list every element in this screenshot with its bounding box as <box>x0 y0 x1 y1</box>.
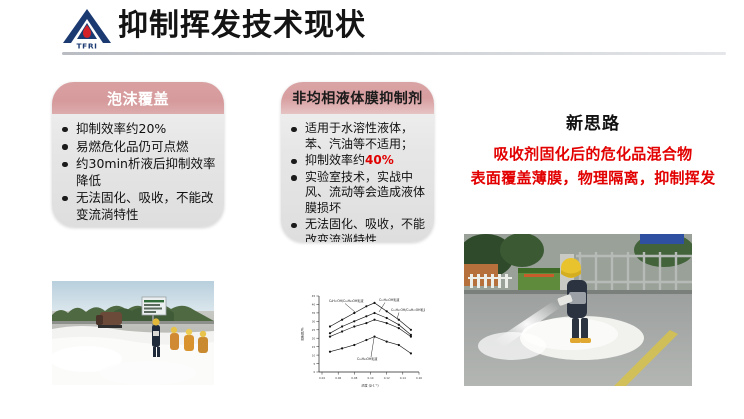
card-film-body: 适用于水溶性液体，苯、汽油等不适用； 抑制效率约40% 实验室技术，实战中风、流… <box>281 114 434 242</box>
new-idea-title: 新思路 <box>447 112 739 136</box>
list-item: 适用于水溶性液体，苯、汽油等不适用； <box>290 121 428 152</box>
svg-text:10: 10 <box>312 353 316 357</box>
chart-series-4-label: C₁₆H₃₃OH乳液 <box>357 356 377 361</box>
new-idea-line-1: 吸收剂固化后的危化品混合物 <box>447 142 739 166</box>
svg-text:25: 25 <box>312 328 316 332</box>
chart-series-3-label: C₁₀H₂₁OH/C₁₈H₃₇OH乳液 <box>391 307 425 312</box>
card-heterogeneous-liquid-film: 非均相液体膜抑制剂 适用于水溶性液体，苯、汽油等不适用； 抑制效率约40% 实验… <box>281 82 434 242</box>
highway-photo-art <box>52 281 214 385</box>
new-idea-block: 新思路 吸收剂固化后的危化品混合物 表面覆盖薄膜，物理隔离，抑制挥发 <box>447 112 739 190</box>
tfri-logo: TFRI <box>58 6 116 50</box>
svg-text:0.06: 0.06 <box>335 376 341 380</box>
firefighter-spraying-foam-photo <box>464 234 692 386</box>
list-item-prefix: 抑制效率约 <box>305 153 365 167</box>
svg-text:15: 15 <box>312 345 316 349</box>
svg-text:5: 5 <box>313 362 315 366</box>
card-foam-body: 抑制效率约20% 易燃危化品仍可点燃 约30min析液后抑制效率降低 无法固化、… <box>52 114 224 227</box>
svg-text:0.14: 0.14 <box>400 376 406 380</box>
chart-svg: 05 1015 2025 3035 4045 0.040.06 0.080.10… <box>293 288 425 392</box>
list-item: 易燃危化品仍可点燃 <box>61 139 218 156</box>
spray-photo-art <box>464 234 692 386</box>
chart-series-2-label: C₁₂H₂₅OH乳液 <box>379 297 399 302</box>
card-foam-coverage: 泡沫覆盖 抑制效率约20% 易燃危化品仍可点燃 约30min析液后抑制效率降低 … <box>52 82 224 227</box>
svg-text:0.16: 0.16 <box>416 376 422 380</box>
list-item: 抑制效率约20% <box>61 121 218 138</box>
slide-header: TFRI 抑制挥发技术现状 <box>0 0 744 58</box>
inhibition-rate-vs-concentration-chart: 05 1015 2025 3035 4045 0.040.06 0.080.10… <box>293 288 425 392</box>
card-foam-bullet-list: 抑制效率约20% 易燃危化品仍可点燃 约30min析液后抑制效率降低 无法固化、… <box>61 121 218 223</box>
svg-text:30: 30 <box>312 320 316 324</box>
svg-text:0.08: 0.08 <box>351 376 357 380</box>
svg-text:40: 40 <box>312 303 316 307</box>
card-foam-title: 泡沫覆盖 <box>107 88 169 109</box>
svg-text:0.10: 0.10 <box>368 376 374 380</box>
chart-series-1-label: C₈H₁₇OH/C₁₆H₃₃OH乳液 <box>329 298 363 303</box>
page-title: 抑制挥发技术现状 <box>118 7 366 45</box>
svg-text:0.12: 0.12 <box>384 376 390 380</box>
chart-ylabel: 抑制率/% <box>300 327 305 340</box>
svg-text:0: 0 <box>313 370 315 374</box>
card-film-title: 非均相液体膜抑制剂 <box>292 88 423 108</box>
list-item-highlight: 40% <box>365 153 394 167</box>
svg-text:45: 45 <box>312 294 316 298</box>
logo-wordmark: TFRI <box>77 41 98 50</box>
list-item: 实验室技术，实战中风、流动等会造成液体膜损坏 <box>290 170 428 217</box>
card-film-header: 非均相液体膜抑制剂 <box>281 82 434 114</box>
new-idea-line-2: 表面覆盖薄膜，物理隔离，抑制挥发 <box>447 166 739 190</box>
svg-text:0.04: 0.04 <box>319 376 325 380</box>
chart-xlabel: 浓度 (g·L⁻¹) <box>361 383 378 388</box>
svg-text:20: 20 <box>312 336 316 340</box>
list-item: 无法固化、吸收，不能改变流淌特性 <box>290 217 428 242</box>
highway-foam-coverage-photo <box>52 281 214 385</box>
card-film-bullet-list: 适用于水溶性液体，苯、汽油等不适用； 抑制效率约40% 实验室技术，实战中风、流… <box>290 121 428 242</box>
title-divider <box>62 52 726 55</box>
svg-text:35: 35 <box>312 311 316 315</box>
list-item: 抑制效率约40% <box>290 153 428 169</box>
list-item: 约30min析液后抑制效率降低 <box>61 156 218 189</box>
tfri-triangle-flame-logo-svg: TFRI <box>58 6 116 50</box>
card-foam-header: 泡沫覆盖 <box>52 82 224 114</box>
list-item: 无法固化、吸收，不能改变流淌特性 <box>61 190 218 223</box>
